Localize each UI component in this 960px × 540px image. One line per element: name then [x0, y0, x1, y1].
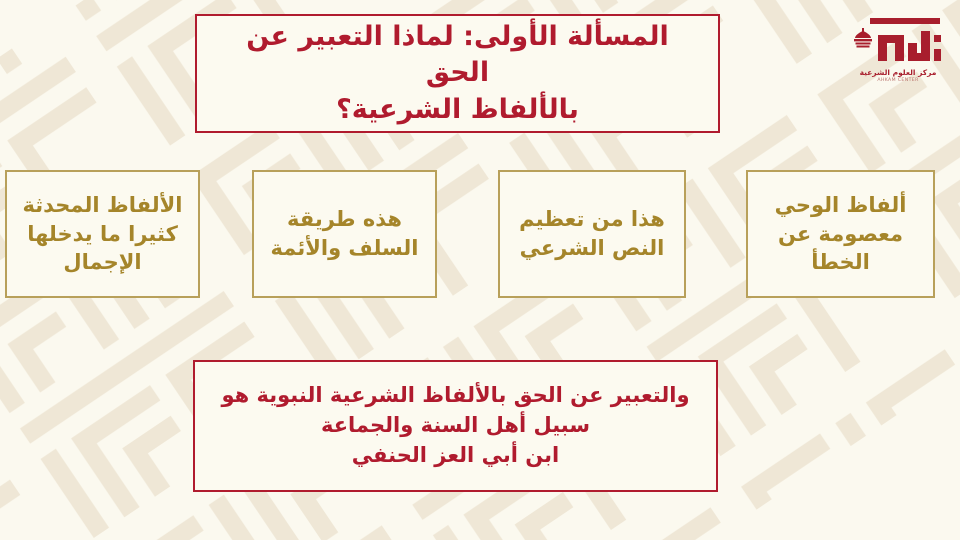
conclusion-card: والتعبير عن الحق بالألفاظ الشرعية النبوي… [193, 360, 718, 492]
reason-card-1-text: الألفاظ المحدثة كثيرا ما يدخلها الإجمال [17, 191, 188, 278]
reason-card-3: هذا من تعظيم النص الشرعي [498, 170, 686, 298]
conclusion-text: والتعبير عن الحق بالألفاظ الشرعية النبوي… [209, 381, 702, 470]
logo-top-bar [870, 18, 940, 24]
logo-wordmark-icon [850, 25, 946, 65]
reason-card-4-text: ألفاظ الوحي معصومة عن الخطأ [758, 191, 923, 278]
reason-card-1: الألفاظ المحدثة كثيرا ما يدخلها الإجمال [5, 170, 200, 298]
ahkam-logo: مركز العلوم الشرعية AHKAM CENTER [846, 18, 950, 100]
question-title-card: المسألة الأولى: لماذا التعبير عن الحق با… [195, 14, 720, 133]
reason-card-2-text: هذه طريقة السلف والأئمة [264, 205, 425, 263]
reason-card-2: هذه طريقة السلف والأئمة [252, 170, 437, 298]
slide: المسألة الأولى: لماذا التعبير عن الحق با… [0, 0, 960, 540]
logo-subtitle-latin: AHKAM CENTER [877, 78, 918, 83]
reason-card-3-text: هذا من تعظيم النص الشرعي [510, 205, 674, 263]
logo-subtitle: مركز العلوم الشرعية [860, 68, 937, 77]
question-title-text: المسألة الأولى: لماذا التعبير عن الحق با… [211, 19, 704, 128]
reason-card-4: ألفاظ الوحي معصومة عن الخطأ [746, 170, 935, 298]
